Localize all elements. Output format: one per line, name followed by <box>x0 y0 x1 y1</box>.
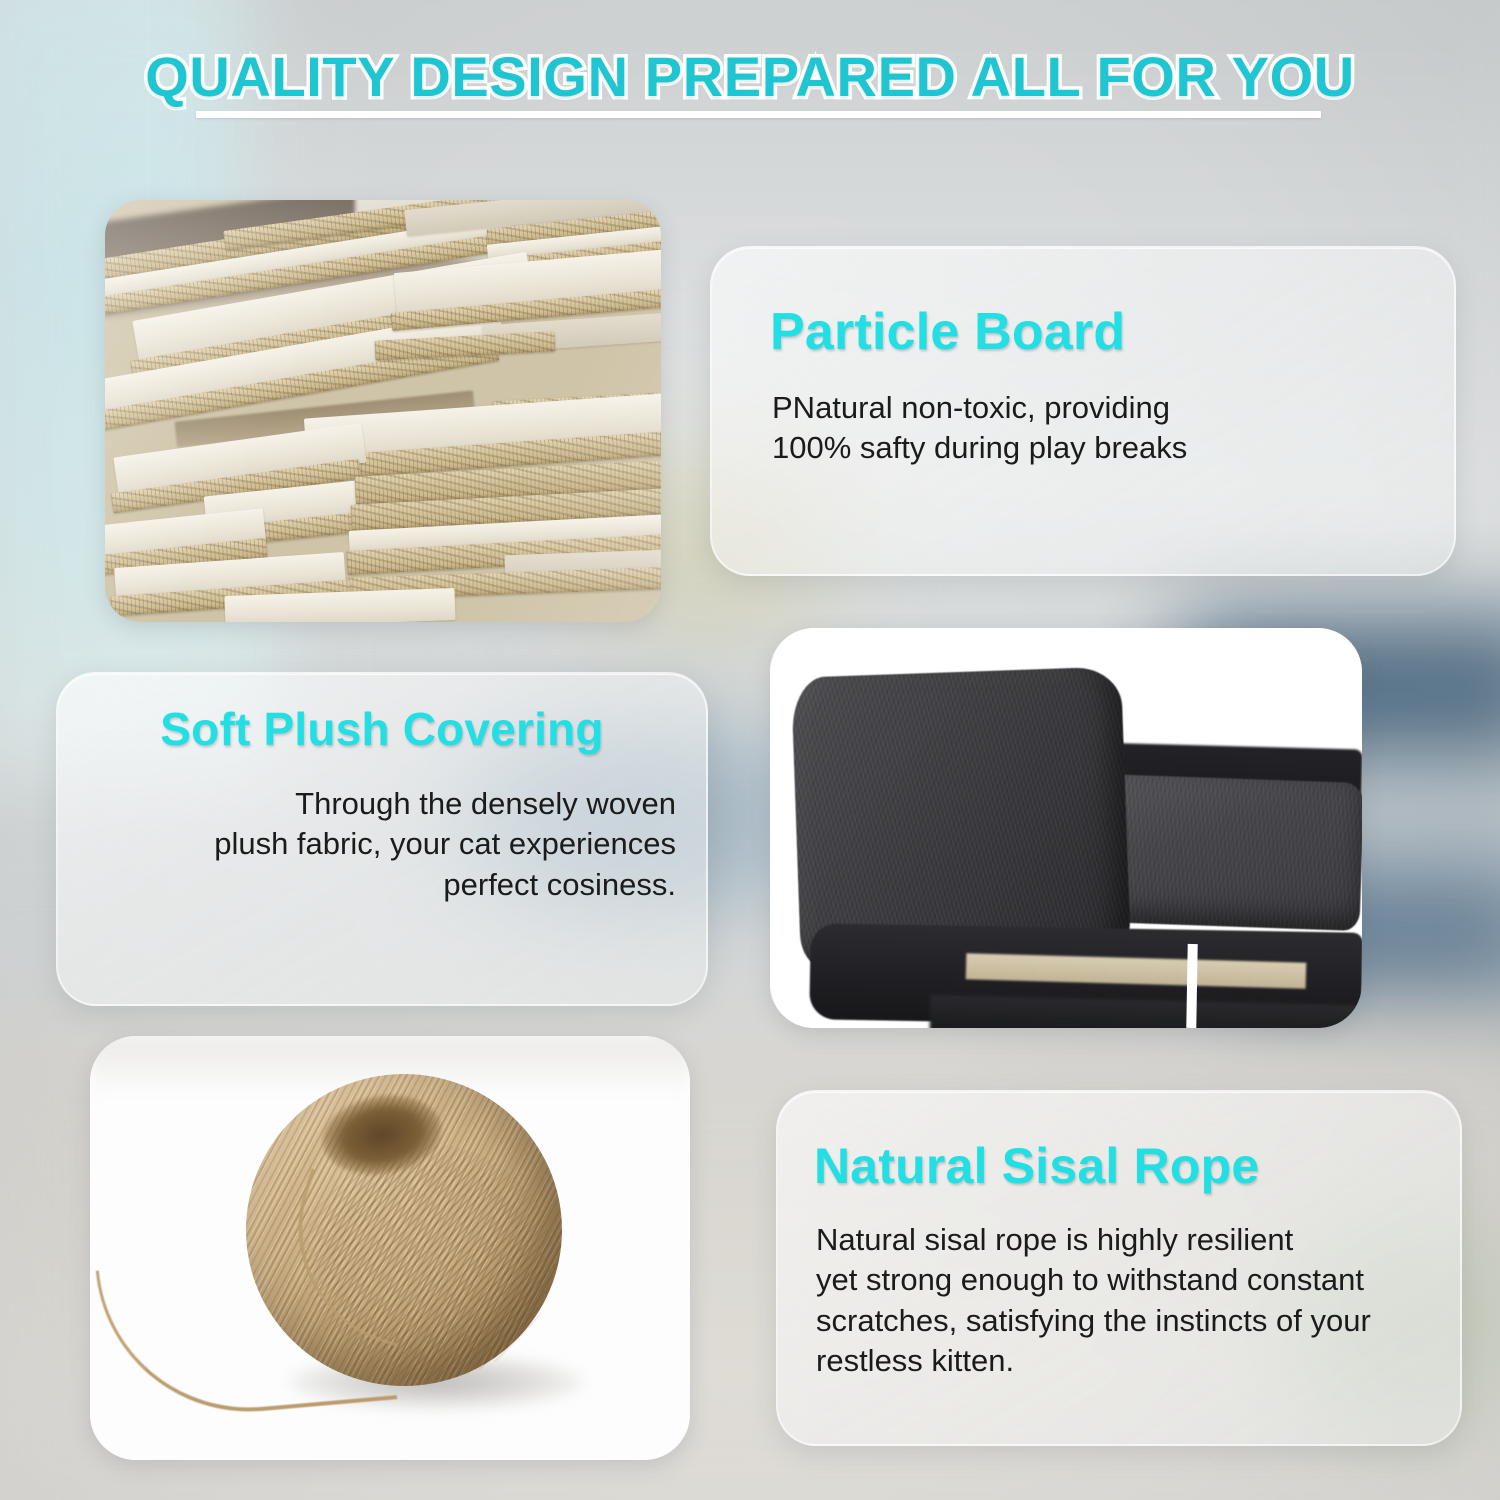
feature-body-line: perfect cosiness. <box>443 867 676 902</box>
feature-card-soft-plush: Soft Plush Covering Through the densely … <box>56 672 708 1006</box>
feature-body-line: Natural sisal rope is highly resilient <box>816 1222 1293 1257</box>
feature-body-line: 100% safty during play breaks <box>772 430 1187 465</box>
page-title: QUALITY DESIGN PREPARED ALL FOR YOU <box>0 44 1500 109</box>
feature-heading-sisal-rope: Natural Sisal Rope <box>814 1140 1259 1192</box>
feature-body-sisal-rope: Natural sisal rope is highly resilient y… <box>816 1220 1450 1381</box>
plush-fabric-scene <box>770 628 1362 1028</box>
particle-board-photo <box>105 200 661 622</box>
plush-main-panel <box>791 666 1131 967</box>
sisal-rope-photo <box>90 1036 690 1460</box>
feature-body-line: Through the densely woven <box>295 786 676 821</box>
feature-body-line: plush fabric, your cat experiences <box>214 826 676 861</box>
feature-body-line: scratches, satisfying the instincts of y… <box>816 1303 1371 1338</box>
feature-body-soft-plush: Through the densely woven plush fabric, … <box>88 784 676 905</box>
plush-fabric-photo <box>770 628 1362 1028</box>
feature-body-line: PNatural non-toxic, providing <box>772 390 1170 425</box>
feature-body-line: restless kitten. <box>816 1343 1014 1378</box>
feature-body-line: yet strong enough to withstand constant <box>816 1262 1364 1297</box>
feature-heading-soft-plush: Soft Plush Covering <box>58 706 706 754</box>
feature-body-particle-board: PNatural non-toxic, providing 100% safty… <box>772 388 1392 469</box>
rope-trailing-strand <box>96 1246 397 1425</box>
feature-heading-particle-board: Particle Board <box>770 305 1125 359</box>
sisal-rope-scene <box>90 1036 690 1460</box>
feature-card-particle-board: Particle Board PNatural non-toxic, provi… <box>710 246 1456 576</box>
page-title-text: QUALITY DESIGN PREPARED ALL FOR YOU <box>145 44 1355 109</box>
particle-board-scene <box>105 200 661 622</box>
plush-white-gap <box>1186 944 1197 1028</box>
feature-card-sisal-rope: Natural Sisal Rope Natural sisal rope is… <box>776 1090 1462 1446</box>
infographic-page: QUALITY DESIGN PREPARED ALL FOR YOU <box>0 0 1500 1500</box>
title-underline-rule <box>196 111 1321 118</box>
